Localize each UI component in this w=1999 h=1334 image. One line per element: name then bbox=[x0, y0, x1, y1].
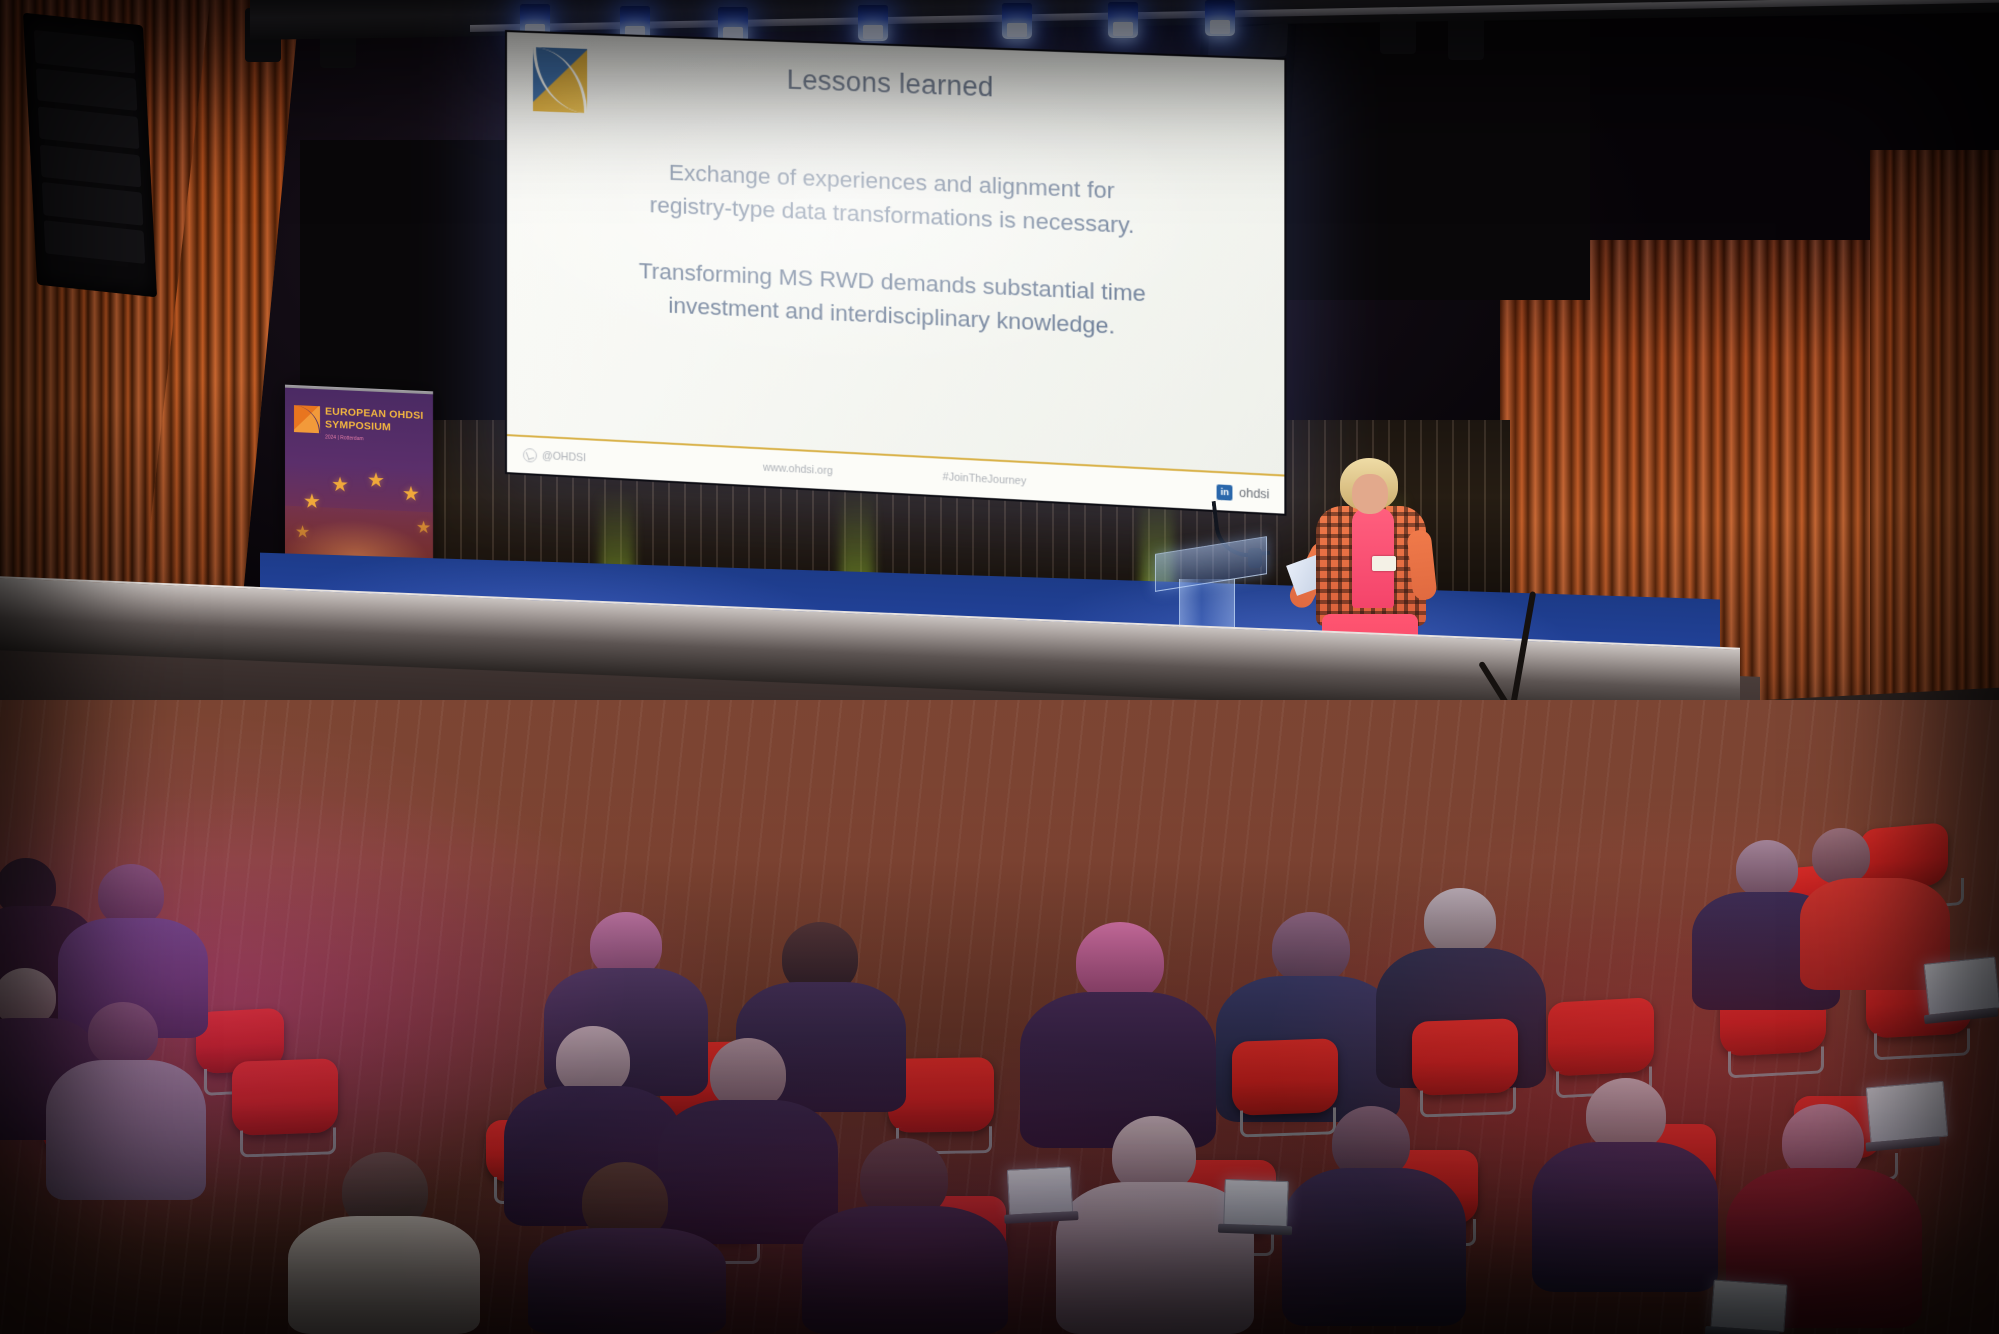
presenter-name-badge bbox=[1372, 556, 1396, 571]
audience-chair bbox=[1412, 1018, 1518, 1096]
presenter-face bbox=[1352, 474, 1388, 514]
ohdsi-europe-logo-icon bbox=[294, 405, 320, 433]
audience-laptop[interactable] bbox=[1710, 1279, 1787, 1332]
audience-laptop[interactable] bbox=[1007, 1166, 1073, 1215]
linkedin-icon: in bbox=[1217, 484, 1233, 500]
led-wash-light bbox=[1108, 2, 1138, 38]
audience-chair bbox=[232, 1058, 338, 1136]
audience-laptop[interactable] bbox=[1223, 1179, 1289, 1227]
line-array-speaker-left bbox=[23, 13, 157, 298]
slide-paragraph-1: Exchange of experiences and alignment fo… bbox=[547, 152, 1242, 247]
slide-footer-twitter: @OHDSI bbox=[507, 447, 706, 472]
slide-footer-website: www.ohdsi.org bbox=[706, 459, 891, 481]
led-wash-light bbox=[1002, 3, 1032, 39]
slide-footer-website-text: www.ohdsi.org bbox=[763, 462, 833, 478]
slide-footer-hashtag-text: #JoinTheJourney bbox=[943, 471, 1027, 488]
presentation-slide: Lessons learned Exchange of experiences … bbox=[507, 32, 1284, 514]
led-wash-light bbox=[858, 5, 888, 41]
banner-subtitle: 2024 | Rotterdam bbox=[325, 434, 364, 442]
projection-screen: Lessons learned Exchange of experiences … bbox=[505, 30, 1286, 516]
slide-paragraph-2: Transforming MS RWD demands substantial … bbox=[547, 251, 1242, 349]
mask-panel-right bbox=[1270, 0, 1590, 300]
audience-chair bbox=[1232, 1038, 1338, 1116]
audience-laptop[interactable] bbox=[1866, 1081, 1949, 1144]
slide-title: Lessons learned bbox=[507, 54, 1284, 115]
slide-footer-twitter-handle: @OHDSI bbox=[542, 450, 586, 464]
conference-hall-photo: Lessons learned Exchange of experiences … bbox=[0, 0, 1999, 1334]
banner-title: EUROPEAN OHDSI SYMPOSIUM bbox=[325, 405, 428, 436]
led-wash-light bbox=[1205, 0, 1235, 36]
audience-laptop[interactable] bbox=[1923, 956, 1999, 1015]
audience-chair bbox=[1548, 997, 1654, 1077]
slide-footer-hashtag: #JoinTheJourney bbox=[891, 468, 1079, 490]
twitter-icon bbox=[523, 448, 537, 463]
slide-body: Exchange of experiences and alignment fo… bbox=[547, 152, 1242, 385]
banner-title-line-2: SYMPOSIUM bbox=[325, 419, 391, 434]
